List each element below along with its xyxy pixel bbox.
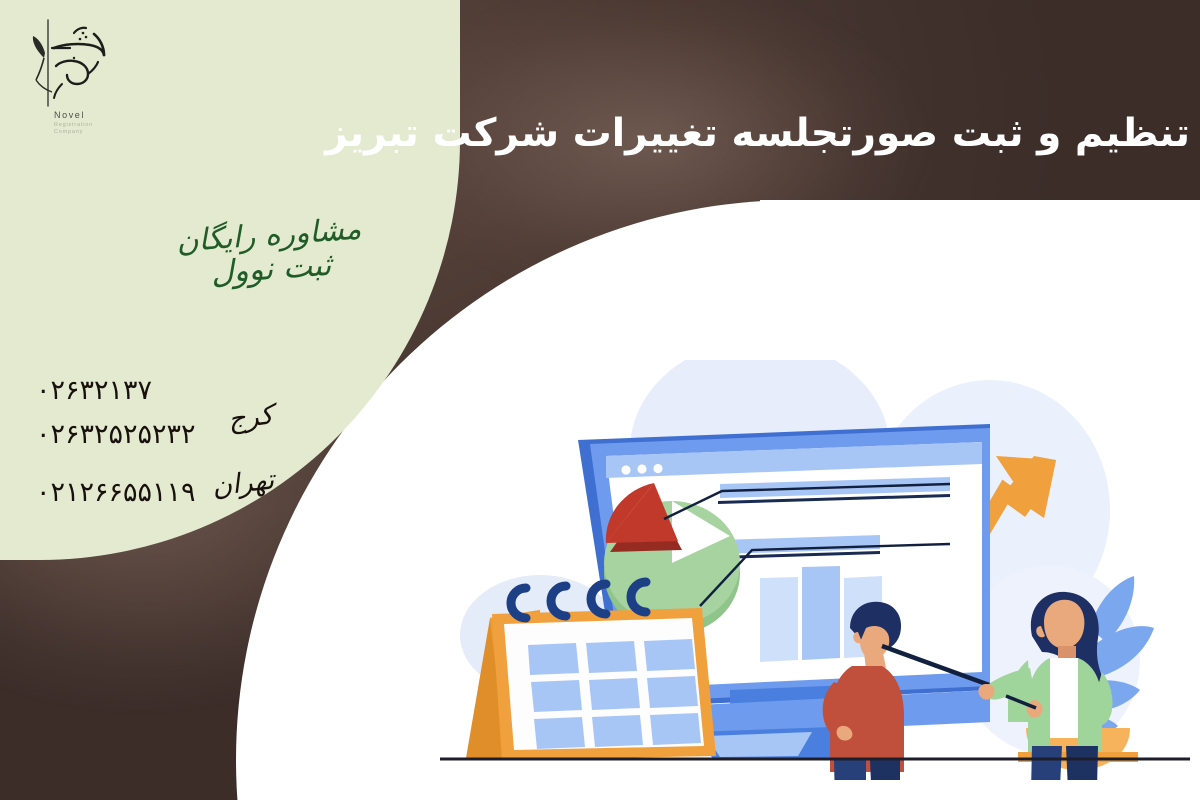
contact-row[interactable]: ۰۲۱۲۶۶۵۵۱۱۹ تهران [0,470,380,514]
contact-list: ۰۲۶۳۲۱۳۷ ۰۲۶۳۲۵۲۵۲۳۲ کرج ۰۲۱۲۶۶۵۵۱۱۹ تهر… [0,368,380,514]
logo-latin-name: Novel [54,110,85,120]
logo-sub-line1: Registration [54,122,93,128]
company-logo[interactable]: Novel Registration Company [22,14,112,132]
logo-latin-subtitle: Registration Company [54,122,93,136]
city-label-tehran: تهران [210,464,276,502]
left-info-column: Novel Registration Company مجتمع تخصصی ث… [0,0,470,560]
quill-pen-icon [33,36,52,92]
contact-row[interactable]: ۰۲۶۳۲۱۳۷ [0,368,380,412]
page-title: تنظیم و ثبت صورتجلسه تغییرات شرکت تبریز [540,110,1190,159]
phone-number[interactable]: ۰۲۶۳۲۵۲۵۲۳۲ [36,419,196,450]
banner-canvas: Novel Registration Company مجتمع تخصصی ث… [0,0,1200,800]
calendar-grid [528,639,701,749]
phone-number[interactable]: ۰۲۱۲۶۶۵۵۱۱۹ [36,477,196,508]
contact-row[interactable]: ۰۲۶۳۲۵۲۵۲۳۲ کرج [0,412,380,456]
logo-sub-line2: Company [54,129,83,135]
business-presentation-illustration [430,360,1200,780]
city-label-karaj: کرج [226,399,275,435]
free-consultation-block: مشاوره رایگان ثبت نوول [148,210,392,297]
phone-number[interactable]: ۰۲۶۳۲۱۳۷ [36,375,152,406]
